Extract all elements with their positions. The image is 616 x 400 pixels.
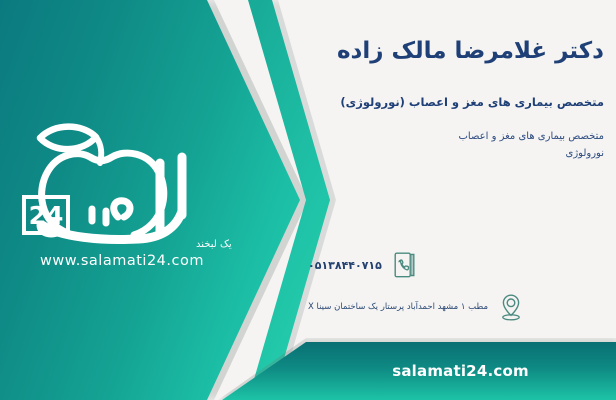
specialty-secondary-line2: نورولوژی bbox=[304, 145, 604, 162]
contact-row-phone[interactable]: ۰۵۱۳۸۴۴۰۷۱۵ bbox=[308, 250, 608, 280]
clinic-address: مطب ۱ مشهد احمدآباد پرستار یک ساختمان سی… bbox=[308, 302, 488, 312]
svg-text:24: 24 bbox=[29, 201, 64, 230]
footer-website[interactable]: salamati24.com bbox=[305, 342, 616, 400]
doctor-name: دکتر غلامرضا مالک زاده bbox=[304, 38, 604, 66]
specialty-secondary-line1: متخصص بیماری های مغز و اعصاب bbox=[304, 128, 604, 145]
contact-row-address[interactable]: مطب ۱ مشهد احمدآباد پرستار یک ساختمان سی… bbox=[308, 292, 608, 322]
logo-tagline: براحتی یک لبخند bbox=[196, 239, 235, 250]
specialty-secondary: متخصص بیماری های مغز و اعصاب نورولوژی bbox=[304, 128, 604, 162]
business-card: 24 براحتی یک لبخند www.salamati24.com دک… bbox=[0, 0, 616, 400]
badge-24: 24 bbox=[24, 197, 68, 233]
logo-website: www.salamati24.com bbox=[40, 253, 204, 269]
specialty-primary: متخصص بیماری های مغز و اعصاب (نورولوژی) bbox=[304, 94, 604, 111]
leaf-icon bbox=[40, 127, 96, 150]
salamati24-logo: 24 براحتی یک لبخند www.salamati24.com bbox=[10, 105, 235, 270]
phone-number: ۰۵۱۳۸۴۴۰۷۱۵ bbox=[308, 259, 382, 272]
location-pin-icon bbox=[498, 292, 524, 322]
phonebook-icon bbox=[392, 250, 418, 280]
